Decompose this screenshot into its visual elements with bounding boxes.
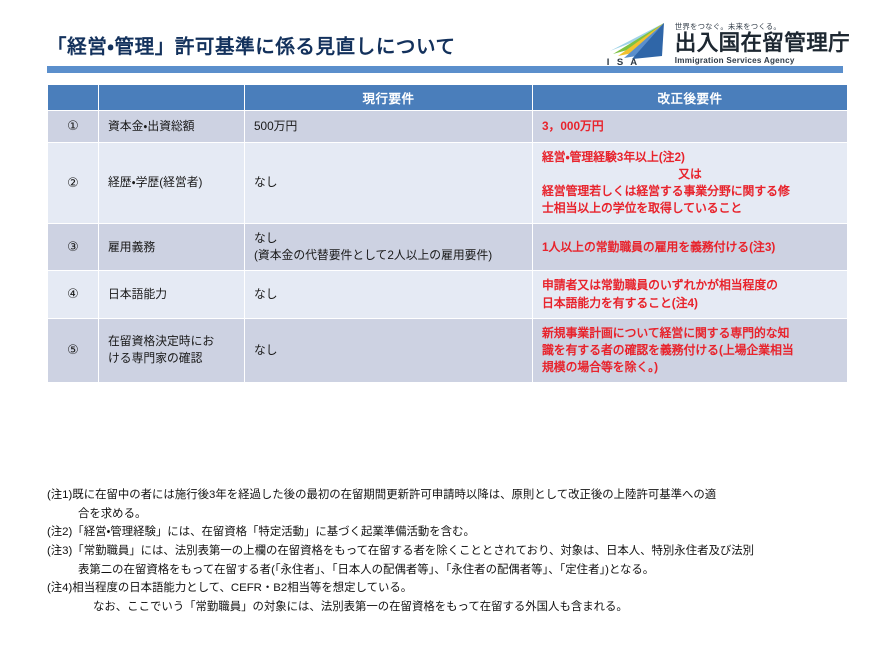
column-header-item: [99, 85, 244, 110]
footnote-item: (注4)相当程度の日本語能力として、CEFR・B2相当等を想定している。: [47, 579, 859, 597]
row-item-label: 雇用義務: [99, 224, 244, 270]
row-number: ④: [48, 271, 98, 317]
page-header: 「経営・管理」許可基準に係る見直しについて I S A 世界をつなぐ。未来をつく…: [0, 0, 877, 78]
row-current-requirement: なし: [245, 271, 532, 317]
row-revised-requirement: 新規事業計画について経営に関する専門的な知識を有する者の確認を義務付ける(上場企…: [533, 319, 847, 382]
row-number: ②: [48, 143, 98, 223]
row-item-label: 日本語能力: [99, 271, 244, 317]
column-header-current: 現行要件: [245, 85, 532, 110]
row-current-requirement: なし(資本金の代替要件として2人以上の雇用要件): [245, 224, 532, 270]
row-current-requirement: なし: [245, 319, 532, 382]
row-current-requirement: 500万円: [245, 111, 532, 142]
footnote-item: (注1)既に在留中の者には施行後3年を経過した後の最初の在留期間更新許可申請時以…: [47, 486, 859, 504]
column-header-revised: 改正後要件: [533, 85, 847, 110]
table-row: ③雇用義務なし(資本金の代替要件として2人以上の雇用要件)1人以上の常勤職員の雇…: [48, 224, 847, 270]
table-body: ①資本金・出資総額500万円3，000万円②経歴・学歴(経営者)なし経営・管理経…: [48, 111, 847, 382]
table-row: ①資本金・出資総額500万円3，000万円: [48, 111, 847, 142]
paper-plane-mark-icon: I S A: [606, 21, 668, 67]
row-number: ①: [48, 111, 98, 142]
row-revised-requirement: 3，000万円: [533, 111, 847, 142]
row-revised-requirement: 経営・管理経験3年以上(注2)又は経営管理若しくは経営する事業分野に関する修士相…: [533, 143, 847, 223]
footnotes: (注1)既に在留中の者には施行後3年を経過した後の最初の在留期間更新許可申請時以…: [47, 486, 859, 616]
row-revised-requirement: 1人以上の常勤職員の雇用を義務付ける(注3): [533, 224, 847, 270]
table-row: ②経歴・学歴(経営者)なし経営・管理経験3年以上(注2)又は経営管理若しくは経営…: [48, 143, 847, 223]
header-accent-bar: [47, 66, 843, 73]
footnote-continuation: 合を求める。: [47, 505, 859, 523]
agency-tagline: 世界をつなぐ。未来をつくる。: [675, 23, 850, 30]
footnote-continuation: 表第二の在留資格をもって在留する者(「永住者」、「日本人の配偶者等」、「永住者の…: [47, 561, 859, 579]
row-revised-requirement: 申請者又は常勤職員のいずれかが相当程度の日本語能力を有すること(注4): [533, 271, 847, 317]
column-header-number: [48, 85, 98, 110]
agency-logo-text: 世界をつなぐ。未来をつくる。 出入国在留管理庁 Immigration Serv…: [675, 23, 850, 65]
table-row: ④日本語能力なし申請者又は常勤職員のいずれかが相当程度の日本語能力を有すること(…: [48, 271, 847, 317]
table-header-row: 現行要件 改正後要件: [48, 85, 847, 110]
row-item-label: 経歴・学歴(経営者): [99, 143, 244, 223]
row-number: ③: [48, 224, 98, 270]
footnote-continuation: なお、ここでいう「常勤職員」の対象には、法別表第一の在留資格をもって在留する外国…: [47, 598, 859, 616]
footnote-item: (注2)「経営・管理経験」には、在留資格「特定活動」に基づく起業準備活動を含む。: [47, 523, 859, 541]
agency-name-jp: 出入国在留管理庁: [675, 32, 850, 55]
requirements-comparison-table: 現行要件 改正後要件 ①資本金・出資総額500万円3，000万円②経歴・学歴(経…: [47, 84, 848, 383]
page-title: 「経営・管理」許可基準に係る見直しについて: [47, 30, 456, 59]
table-row: ⑤在留資格決定時における専門家の確認なし新規事業計画について経営に関する専門的な…: [48, 319, 847, 382]
row-item-label: 在留資格決定時における専門家の確認: [99, 319, 244, 382]
row-current-requirement: なし: [245, 143, 532, 223]
row-number: ⑤: [48, 319, 98, 382]
row-item-label: 資本金・出資総額: [99, 111, 244, 142]
footnote-item: (注3)「常勤職員」には、法別表第一の上欄の在留資格をもって在留する者を除くこと…: [47, 542, 859, 560]
agency-name-en: Immigration Services Agency: [675, 57, 850, 65]
agency-logo: I S A 世界をつなぐ。未来をつくる。 出入国在留管理庁 Immigratio…: [606, 21, 850, 67]
